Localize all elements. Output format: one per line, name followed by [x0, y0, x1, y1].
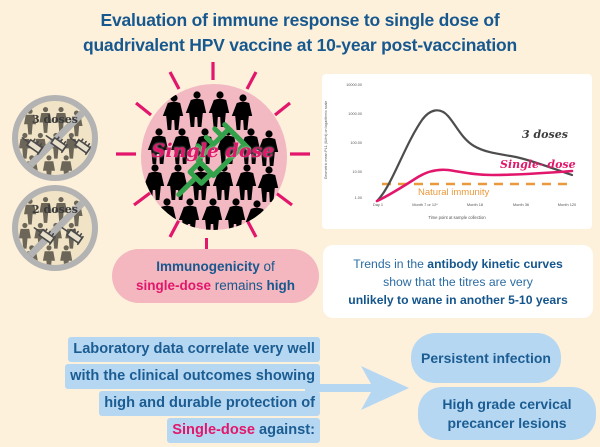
graphical-abstract-canvas: Evaluation of immune response to single …: [0, 0, 600, 447]
lab-line-4: Single-dose against:: [167, 418, 320, 443]
trends-line1-bold: antibody kinetic curves: [427, 257, 562, 271]
single-dose-hero: Single dose: [108, 62, 318, 247]
chart-x-axis-title: Time point at sample collection: [322, 215, 592, 220]
x-tick-month-18: Month 18: [452, 202, 498, 207]
against-word: against:: [255, 422, 315, 438]
outcome-label: High grade cervical precancer lesions: [428, 395, 586, 433]
immunogenicity-callout: Immunogenicity of single-dose remains hi…: [112, 249, 319, 303]
trends-line2: show that the titres are very: [383, 275, 533, 289]
excluded-regimen-label: 3 doses: [18, 113, 92, 126]
syringe-group-icon: [18, 131, 98, 177]
x-tick-day-1: Day 1: [355, 202, 401, 207]
lab-line-1: Laboratory data correlate very well: [68, 337, 320, 362]
immunogenicity-word: Immunogenicity: [156, 259, 260, 274]
antibody-trends-callout: Trends in the antibody kinetic curves sh…: [323, 245, 593, 318]
legend-single-dose: Single- dose: [500, 158, 576, 171]
lab-line-3: high and durable protection of: [99, 391, 320, 416]
page-title: Evaluation of immune response to single …: [0, 8, 600, 58]
lab-line-2: with the clinical outcomes showing: [65, 364, 320, 389]
title-line-2: quadrivalent HPV vaccine at 10-year post…: [0, 33, 600, 58]
hero-label: Single dose: [108, 140, 318, 162]
x-tick-month-120: Month 120: [544, 202, 590, 207]
excluded-regimen-3-doses: 3 doses: [12, 95, 98, 181]
excluded-regimen-2-doses: 2 doses: [12, 185, 98, 271]
outcome-bubble-precancer-lesions: High grade cervical precancer lesions: [418, 387, 596, 440]
single-dose-word: single-dose: [136, 278, 211, 293]
trends-line3: unlikely to wane in another 5-10 years: [348, 293, 567, 307]
excluded-regimen-label: 2 doses: [18, 203, 92, 216]
trends-line1-plain: Trends in the: [353, 257, 427, 271]
legend-natural-immunity: Natural immunity: [418, 187, 489, 198]
outcome-label: Persistent infection: [421, 349, 551, 368]
arrow-right-icon: [305, 358, 415, 414]
x-tick-month-36: Month 36: [498, 202, 544, 207]
single-dose-highlight: Single-dose: [172, 422, 255, 438]
legend-3-doses: 3 doses: [522, 128, 568, 141]
high-word: high: [267, 278, 296, 293]
title-line-1: Evaluation of immune response to single …: [0, 8, 600, 33]
antibody-kinetics-chart: Geometric mean PL1 (IU/ml) on logarithmi…: [322, 74, 592, 229]
syringe-group-icon: [18, 221, 98, 267]
laboratory-statement: Laboratory data correlate very well with…: [8, 337, 320, 445]
outcome-bubble-persistent-infection: Persistent infection: [411, 333, 561, 383]
of-word: of: [260, 259, 275, 274]
remains-word: remains: [211, 278, 267, 293]
x-tick-month-7: Month 7 or 12*: [402, 202, 448, 207]
